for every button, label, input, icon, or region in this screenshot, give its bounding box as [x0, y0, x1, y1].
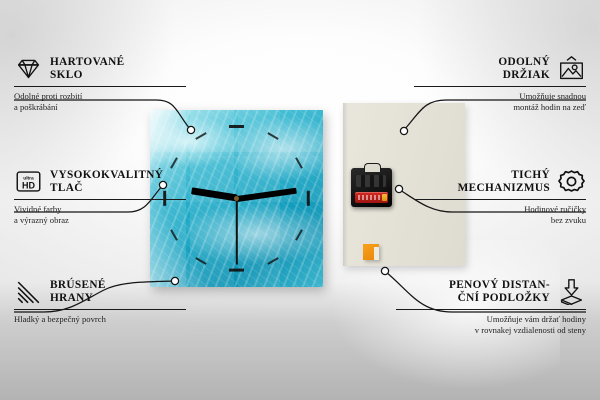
badge-text-main: HD	[22, 180, 35, 190]
connector-dot-right-1	[400, 127, 407, 134]
connector-dot-left-1	[187, 126, 194, 133]
feature-heading: HARTOVANÉ SKLO	[14, 55, 186, 82]
feature-divider	[14, 86, 186, 87]
feature-divider	[14, 199, 186, 200]
clock-center-cap	[234, 196, 239, 201]
feature-heading: ultra HD VYSOKOKVALITNÝ TLAČ	[14, 168, 186, 195]
gear-icon	[557, 168, 586, 195]
feature-heading: PENOVÝ DISTAN- ČNÍ PODLOŽKY	[396, 278, 586, 305]
feature-title: HARTOVANÉ SKLO	[50, 56, 125, 81]
feature-title: TICHÝ MECHANIZMUS	[458, 169, 550, 194]
diamond-icon	[14, 55, 43, 82]
feature-title: VYSOKOKVALITNÝ TLAČ	[50, 169, 163, 194]
connector-dot-right-2	[395, 185, 402, 192]
feature-divider	[396, 309, 586, 310]
feature-desc-line2: bez zvuku	[414, 215, 586, 226]
feature-polished-edges: BRÚSENÉ HRANY Hladký a bezpečný povrch	[14, 278, 186, 325]
feature-silent-movement: TICHÝ MECHANIZMUS Hodinové ručičky bez z…	[414, 168, 586, 225]
feature-high-quality-print: ultra HD VYSOKOKVALITNÝ TLAČ Vividné far…	[14, 168, 186, 225]
feature-desc-line2: v rovnakej vzdialenosti od steny	[396, 325, 586, 336]
press-down-pad-icon	[557, 278, 586, 305]
feature-divider	[414, 199, 586, 200]
clock-second-hand	[236, 198, 238, 264]
brushed-edge-icon	[14, 278, 43, 305]
feature-title: BRÚSENÉ HRANY	[50, 279, 106, 304]
feature-heading: ODOLNÝ DRŽIAK	[414, 55, 586, 82]
feature-desc-line1: Hodinové ručičky	[414, 204, 586, 215]
infographic-canvas: HARTOVANÉ SKLO Odolné proti rozbití a po…	[0, 0, 600, 400]
feature-heading: TICHÝ MECHANIZMUS	[414, 168, 586, 195]
feature-hardened-glass: HARTOVANÉ SKLO Odolné proti rozbití a po…	[14, 55, 186, 112]
wall-hanger-picture-icon	[557, 55, 586, 82]
feature-desc-line1: Odolné proti rozbití	[14, 91, 186, 102]
feature-durable-hanger: ODOLNÝ DRŽIAK Umožňuje snadnou montáž ho…	[414, 55, 586, 112]
feature-title: PENOVÝ DISTAN- ČNÍ PODLOŽKY	[449, 279, 550, 304]
feature-divider	[14, 309, 186, 310]
ultra-hd-badge-icon: ultra HD	[14, 168, 43, 195]
feature-desc-line2: a výrazný obraz	[14, 215, 186, 226]
feature-desc-line2: a poškrábání	[14, 102, 186, 113]
feature-desc-line1: Umožňuje snadnou	[414, 91, 586, 102]
feature-desc-line1: Hladký a bezpečný povrch	[14, 314, 186, 325]
feature-desc-line1: Umožňuje vám držať hodiny	[396, 314, 586, 325]
feature-desc-line2: montáž hodin na zeď	[414, 102, 586, 113]
feature-heading: BRÚSENÉ HRANY	[14, 278, 186, 305]
feature-title: ODOLNÝ DRŽIAK	[498, 56, 550, 81]
feature-foam-spacers: PENOVÝ DISTAN- ČNÍ PODLOŽKY Umožňuje vám…	[396, 278, 586, 335]
feature-desc-line1: Vividné farby	[14, 204, 186, 215]
connector-dot-right-3	[381, 267, 388, 274]
feature-divider	[414, 86, 586, 87]
